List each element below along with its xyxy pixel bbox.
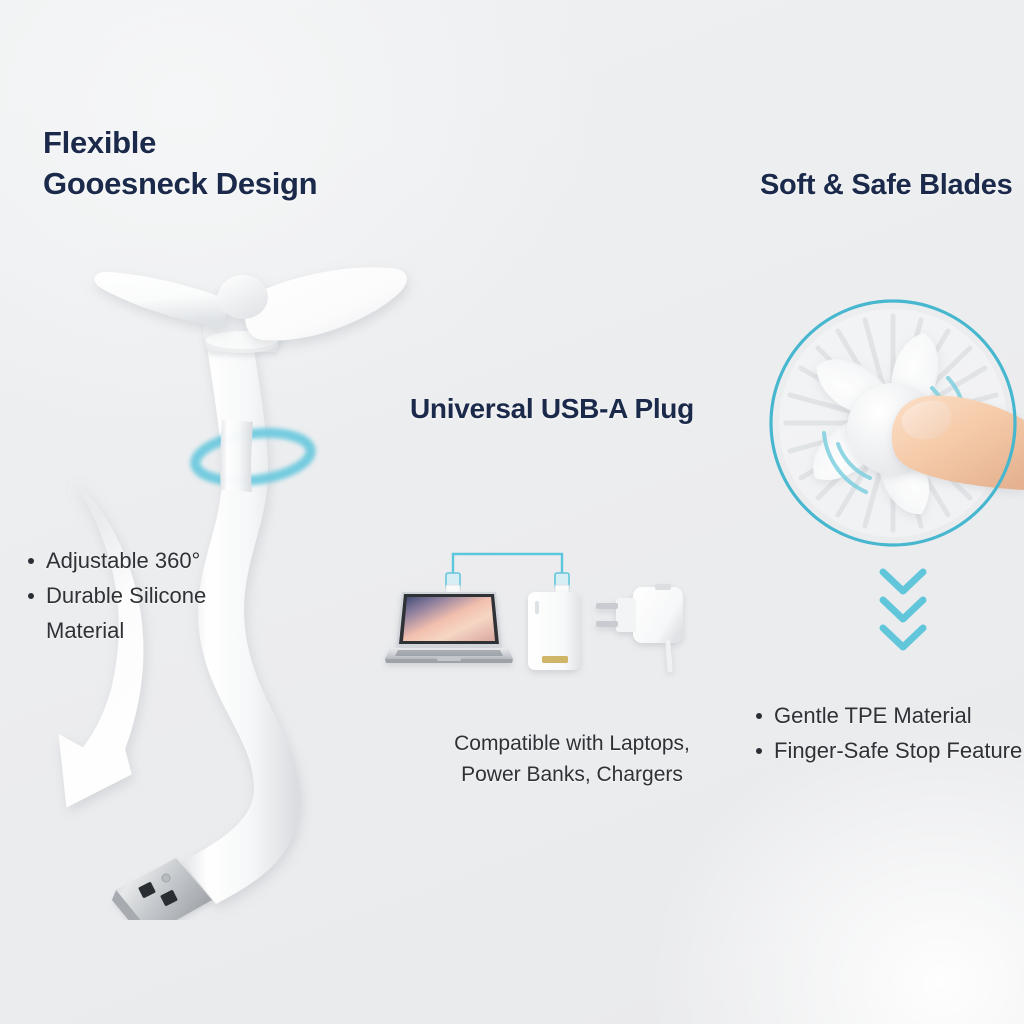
list-item: Finger-Safe Stop Feature bbox=[752, 733, 1024, 768]
power-bank-device bbox=[528, 592, 580, 670]
chevron-down-arrows-group bbox=[855, 558, 951, 654]
left-panel-bullet-list: Adjustable 360° Durable Silicone Materia… bbox=[24, 543, 284, 648]
left-heading-line-2: Gooesneck Design bbox=[43, 163, 373, 204]
chevron-down-icon bbox=[883, 572, 923, 591]
left-panel-heading: Flexible Gooesneck Design bbox=[43, 122, 373, 204]
infographic-canvas: Flexible Gooesneck Design Soft & Safe Bl… bbox=[0, 0, 1024, 1024]
chevron-down-icon bbox=[883, 600, 923, 619]
wall-charger-device bbox=[596, 584, 683, 670]
chevron-down-icon bbox=[883, 628, 923, 647]
right-panel-heading: Soft & Safe Blades bbox=[760, 166, 1012, 204]
front-fan-with-finger-illustration bbox=[762, 292, 1024, 554]
center-panel-caption: Compatible with Laptops, Power Banks, Ch… bbox=[400, 728, 744, 790]
caption-line-2: Power Banks, Chargers bbox=[400, 759, 744, 790]
fan-blades bbox=[94, 267, 406, 340]
right-panel-bullet-list: Gentle TPE Material Finger-Safe Stop Fea… bbox=[752, 698, 1024, 768]
left-heading-line-1: Flexible bbox=[43, 122, 373, 163]
list-item: Gentle TPE Material bbox=[752, 698, 1024, 733]
caption-line-1: Compatible with Laptops, bbox=[400, 728, 744, 759]
laptop-device bbox=[385, 592, 513, 663]
list-item: Durable Silicone Material bbox=[24, 578, 284, 648]
list-item: Adjustable 360° bbox=[24, 543, 284, 578]
compatible-devices-illustration bbox=[380, 548, 732, 678]
neck-over-ring bbox=[220, 420, 253, 492]
